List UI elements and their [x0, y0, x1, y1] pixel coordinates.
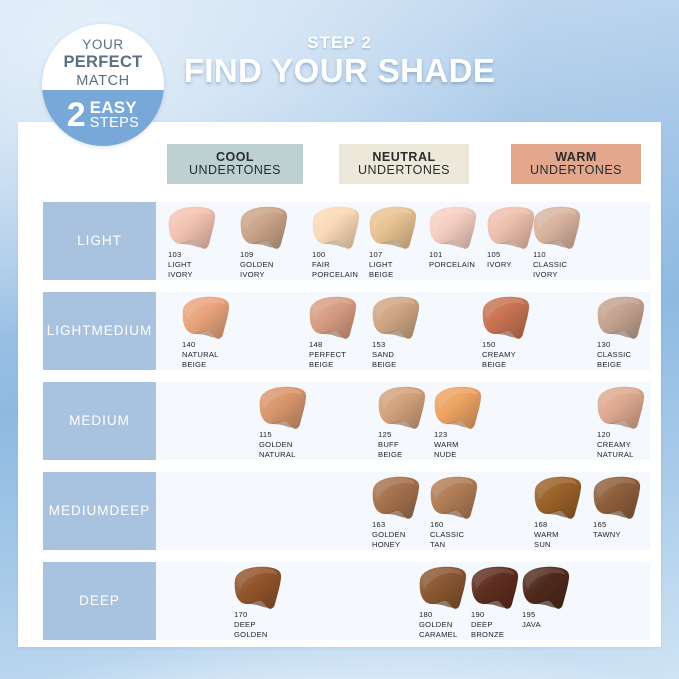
shade-smear	[311, 206, 363, 250]
shade-code: 130	[597, 340, 669, 350]
shade-smear	[377, 386, 429, 430]
shade-code: 160	[430, 520, 502, 530]
row-label-light[interactable]: LIGHT	[43, 202, 156, 280]
foundation-smear-shape	[533, 476, 585, 520]
shade-name-line1: CLASSIC	[533, 260, 605, 270]
shade-swatch-150[interactable]: 150CREAMYBEIGE	[481, 296, 553, 370]
shade-name-line2: NUDE	[434, 450, 506, 460]
shade-smear	[181, 296, 233, 340]
shade-smear	[308, 296, 360, 340]
shade-swatch-120[interactable]: 120CREAMYNATURAL	[596, 386, 668, 460]
shade-code: 109	[240, 250, 312, 260]
shade-row: MEDIUMDEEP 163GOLDENHONEY 160CLASSICTAN	[18, 472, 661, 550]
foundation-smear-shape	[377, 386, 429, 430]
shade-name-line1: CREAMY	[597, 440, 669, 450]
shade-row: LIGHT 103LIGHTIVORY 109GOLDENIVORY	[18, 202, 661, 280]
shade-swatch-170[interactable]: 170DEEPGOLDEN	[233, 566, 305, 640]
row-label-medium[interactable]: MEDIUM	[43, 382, 156, 460]
row-label-line: MEDIUM	[92, 323, 153, 340]
shade-smear	[596, 386, 648, 430]
undertone-chip-neutral: NEUTRALUNDERTONES	[339, 144, 469, 184]
shade-name-line2: GOLDEN	[234, 630, 306, 640]
undertone-chip-warm: WARMUNDERTONES	[511, 144, 641, 184]
shade-label: 140NATURALBEIGE	[182, 340, 254, 370]
shade-name-line2: IVORY	[533, 270, 605, 280]
row-label-line: LIGHT	[47, 323, 92, 340]
foundation-smear-shape	[532, 206, 584, 250]
shade-name-line1: NATURAL	[182, 350, 254, 360]
row-label-medium-deep[interactable]: MEDIUMDEEP	[43, 472, 156, 550]
shade-code: 110	[533, 250, 605, 260]
foundation-smear-shape	[596, 386, 648, 430]
undertone-chip-subtitle: UNDERTONES	[189, 164, 281, 177]
infographic-canvas: STEP 2 FIND YOUR SHADE YOUR PERFECT MATC…	[0, 0, 679, 679]
row-label-line: DEEP	[79, 593, 120, 610]
shade-name-line2: NATURAL	[259, 450, 331, 460]
shade-code: 195	[522, 610, 594, 620]
foundation-smear-shape	[308, 296, 360, 340]
shade-smear	[596, 296, 648, 340]
shade-row: LIGHTMEDIUM 140NATURALBEIGE 148PERFECTBE…	[18, 292, 661, 370]
shade-smear	[470, 566, 522, 610]
foundation-smear-shape	[428, 206, 480, 250]
shade-code: 170	[234, 610, 306, 620]
shade-label: 120CREAMYNATURAL	[597, 430, 669, 460]
shade-swatch-130[interactable]: 130CLASSICBEIGE	[596, 296, 668, 370]
shade-name-line1: WARM	[434, 440, 506, 450]
shade-smear	[428, 206, 480, 250]
foundation-smear-shape	[596, 296, 648, 340]
foundation-smear-shape	[167, 206, 219, 250]
shade-smear	[371, 296, 423, 340]
shade-smear	[368, 206, 420, 250]
perfect-match-badge: YOUR PERFECT MATCH 2 EASY STEPS	[42, 24, 164, 146]
shade-code: 123	[434, 430, 506, 440]
badge-line-match: MATCH	[42, 73, 164, 89]
shade-code: 120	[597, 430, 669, 440]
shade-name-line2: TAN	[430, 540, 502, 550]
row-label-line: MEDIUM	[49, 503, 110, 520]
shade-code: 165	[593, 520, 665, 530]
shade-label: 153SANDBEIGE	[372, 340, 444, 370]
foundation-smear-shape	[371, 476, 423, 520]
foundation-smear-shape	[181, 296, 233, 340]
shade-name-line1: DEEP	[234, 620, 306, 630]
shade-swatch-160[interactable]: 160CLASSICTAN	[429, 476, 501, 550]
shade-smear	[167, 206, 219, 250]
undertone-chip-subtitle: UNDERTONES	[530, 164, 622, 177]
shade-label: 123WARMNUDE	[434, 430, 506, 460]
shade-label: 103LIGHTIVORY	[168, 250, 240, 280]
foundation-smear-shape	[486, 206, 538, 250]
foundation-smear-shape	[368, 206, 420, 250]
row-label-line: MEDIUM	[69, 413, 130, 430]
foundation-smear-shape	[433, 386, 485, 430]
shade-chart-card: COOLUNDERTONESNEUTRALUNDERTONESWARMUNDER…	[18, 122, 661, 647]
badge-line-perfect: PERFECT	[42, 53, 164, 72]
shade-smear	[418, 566, 470, 610]
shade-label: 115GOLDENNATURAL	[259, 430, 331, 460]
row-label-line: DEEP	[109, 503, 150, 520]
foundation-smear-shape	[311, 206, 363, 250]
shade-swatch-140[interactable]: 140NATURALBEIGE	[181, 296, 253, 370]
shade-smear	[258, 386, 310, 430]
shade-name-line1: CREAMY	[482, 350, 554, 360]
badge-steps-group: 2 EASY STEPS	[42, 92, 164, 138]
shade-name-line2: IVORY	[240, 270, 312, 280]
shade-name-line1: GOLDEN	[240, 260, 312, 270]
foundation-smear-shape	[418, 566, 470, 610]
shade-name-line2: BEIGE	[597, 360, 669, 370]
shade-name-line2: NATURAL	[597, 450, 669, 460]
shade-swatch-195[interactable]: 195JAVA	[521, 566, 593, 640]
shade-label: 195JAVA	[522, 610, 594, 630]
shade-label: 150CREAMYBEIGE	[482, 340, 554, 370]
shade-swatch-153[interactable]: 153SANDBEIGE	[371, 296, 443, 370]
shade-swatch-110[interactable]: 110CLASSICIVORY	[532, 206, 604, 280]
shade-name-line2: BEIGE	[372, 360, 444, 370]
shade-name-line1: CLASSIC	[430, 530, 502, 540]
shade-row: DEEP 170DEEPGOLDEN 180GOLDENCARAMEL	[18, 562, 661, 640]
shade-name-line1: SAND	[372, 350, 444, 360]
row-label-deep[interactable]: DEEP	[43, 562, 156, 640]
foundation-smear-shape	[258, 386, 310, 430]
shade-swatch-109[interactable]: 109GOLDENIVORY	[239, 206, 311, 280]
shade-swatch-103[interactable]: 103LIGHTIVORY	[167, 206, 239, 280]
foundation-smear-shape	[429, 476, 481, 520]
shade-label: 160CLASSICTAN	[430, 520, 502, 550]
shade-smear	[533, 476, 585, 520]
foundation-smear-shape	[233, 566, 285, 610]
foundation-smear-shape	[592, 476, 644, 520]
shade-smear	[429, 476, 481, 520]
badge-steps-label: STEPS	[90, 116, 140, 131]
badge-easy-label: EASY	[90, 99, 140, 116]
shade-name-line1: JAVA	[522, 620, 594, 630]
shade-label: 130CLASSICBEIGE	[597, 340, 669, 370]
shade-smear	[233, 566, 285, 610]
shade-code: 140	[182, 340, 254, 350]
shade-smear	[486, 206, 538, 250]
undertone-header-row: COOLUNDERTONESNEUTRALUNDERTONESWARMUNDER…	[18, 144, 661, 186]
shade-smear	[433, 386, 485, 430]
shade-label: 110CLASSICIVORY	[533, 250, 605, 280]
badge-step-number: 2	[67, 98, 86, 132]
shade-code: 103	[168, 250, 240, 260]
shade-row: MEDIUM 115GOLDENNATURAL 125BUFFBEIGE	[18, 382, 661, 460]
shade-swatch-165[interactable]: 165TAWNY	[592, 476, 664, 550]
shade-smear	[521, 566, 573, 610]
shade-label: 170DEEPGOLDEN	[234, 610, 306, 640]
shade-name-line2: BEIGE	[182, 360, 254, 370]
undertone-chip-cool: COOLUNDERTONES	[167, 144, 303, 184]
shade-swatch-123[interactable]: 123WARMNUDE	[433, 386, 505, 460]
shade-smear	[371, 476, 423, 520]
shade-smear	[592, 476, 644, 520]
badge-line-your: YOUR	[42, 37, 164, 52]
shade-name-line2: BEIGE	[482, 360, 554, 370]
row-label-light-medium[interactable]: LIGHTMEDIUM	[43, 292, 156, 370]
foundation-smear-shape	[239, 206, 291, 250]
shade-smear	[239, 206, 291, 250]
foundation-smear-shape	[470, 566, 522, 610]
foundation-smear-shape	[481, 296, 533, 340]
shade-name-line1: TAWNY	[593, 530, 665, 540]
shade-label: 109GOLDENIVORY	[240, 250, 312, 280]
shade-label: 165TAWNY	[593, 520, 665, 540]
foundation-smear-shape	[371, 296, 423, 340]
undertone-chip-subtitle: UNDERTONES	[358, 164, 450, 177]
shade-smear	[532, 206, 584, 250]
shade-name-line1: LIGHT	[168, 260, 240, 270]
shade-swatch-115[interactable]: 115GOLDENNATURAL	[258, 386, 330, 460]
shade-name-line2: IVORY	[168, 270, 240, 280]
shade-name-line1: GOLDEN	[259, 440, 331, 450]
shade-swatch-148[interactable]: 148PERFECTBEIGE	[308, 296, 380, 370]
shade-name-line1: CLASSIC	[597, 350, 669, 360]
shade-code: 150	[482, 340, 554, 350]
row-label-line: LIGHT	[77, 233, 122, 250]
foundation-smear-shape	[521, 566, 573, 610]
shade-smear	[481, 296, 533, 340]
shade-code: 115	[259, 430, 331, 440]
shade-code: 153	[372, 340, 444, 350]
